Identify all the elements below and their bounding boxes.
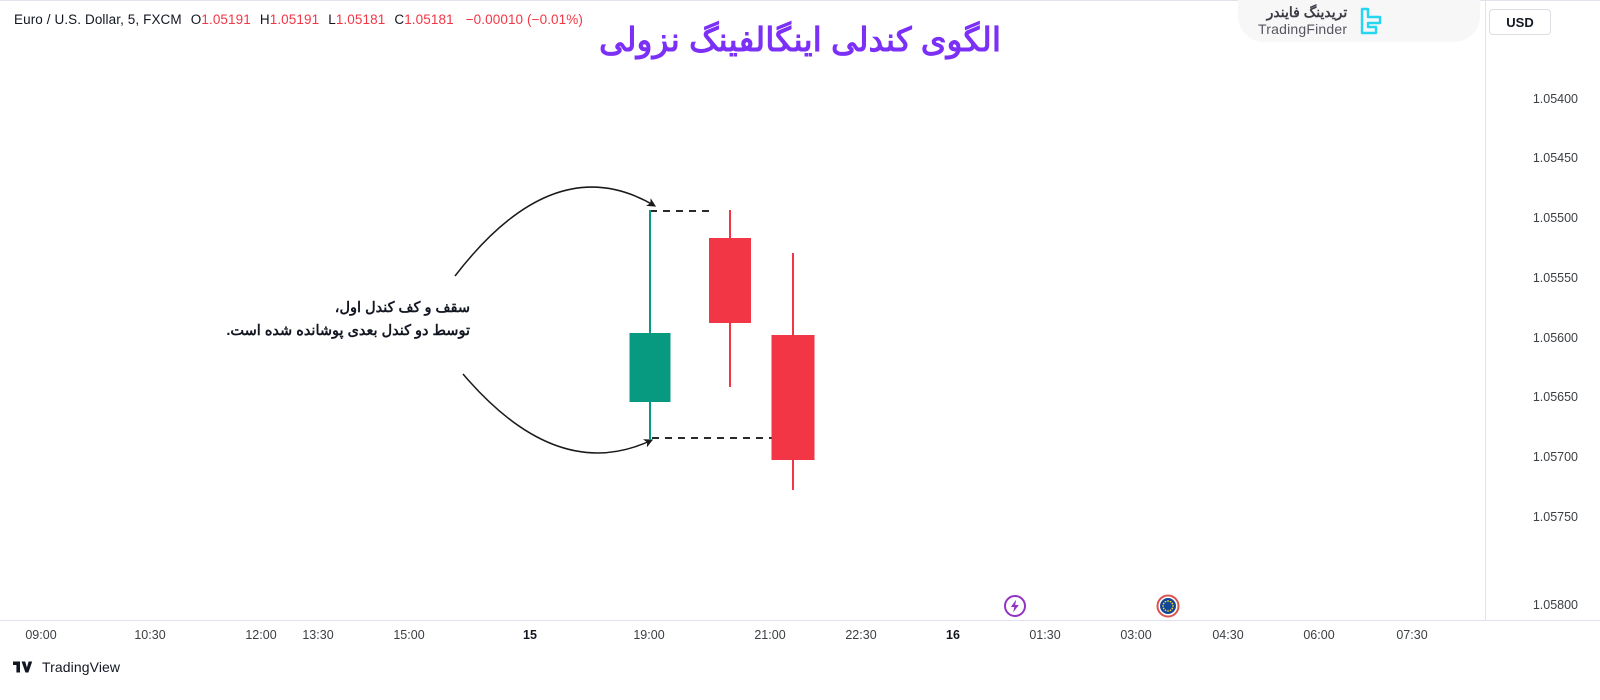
time-axis-tick: 19:00 [633, 628, 664, 642]
bottom-engulf-arrow [463, 374, 652, 453]
price-axis-tick: 1.05400 [1533, 92, 1578, 106]
price-axis-tick: 1.05800 [1533, 598, 1578, 612]
price-axis-tick: 1.05600 [1533, 331, 1578, 345]
time-axis-tick: 22:30 [845, 628, 876, 642]
eu-news-marker[interactable] [1156, 594, 1180, 618]
time-axis-tick: 12:00 [245, 628, 276, 642]
time-axis-tick: 09:00 [25, 628, 56, 642]
price-axis-tick: 1.05750 [1533, 510, 1578, 524]
time-axis-tick: 04:30 [1212, 628, 1243, 642]
price-axis-divider [1485, 0, 1486, 620]
candle-body [709, 238, 751, 323]
time-axis-tick: 13:30 [302, 628, 333, 642]
time-axis-tick: 10:30 [134, 628, 165, 642]
time-axis-tick: 03:00 [1120, 628, 1151, 642]
price-axis-tick: 1.05700 [1533, 450, 1578, 464]
tradingview-chart-screenshot: Euro / U.S. Dollar, 5, FXCM O1.05191 H1.… [0, 0, 1600, 700]
candle-body [772, 335, 815, 460]
time-axis-tick: 15 [523, 628, 537, 642]
candle-wick [649, 210, 651, 440]
time-axis-tick: 16 [946, 628, 960, 642]
time-axis-divider [0, 620, 1600, 621]
time-axis-tick: 06:00 [1303, 628, 1334, 642]
tradingview-footer[interactable]: TradingView [13, 659, 120, 675]
candle-body [630, 333, 671, 402]
price-axis-tick: 1.05650 [1533, 390, 1578, 404]
chart-plot-area[interactable]: سقف و کف کندل اول، توسط دو کندل بعدی پوش… [0, 0, 1485, 620]
top-engulf-arrow [455, 187, 655, 276]
pattern-annotation: سقف و کف کندل اول، توسط دو کندل بعدی پوش… [150, 297, 470, 344]
tradingview-footer-label: TradingView [42, 659, 120, 675]
time-axis-tick: 01:30 [1029, 628, 1060, 642]
currency-badge[interactable]: USD [1489, 9, 1551, 35]
pattern-annotation-line-1: سقف و کف کندل اول، [150, 297, 470, 320]
time-axis-tick: 07:30 [1396, 628, 1427, 642]
time-axis-tick: 21:00 [754, 628, 785, 642]
eu-flag-icon [1156, 594, 1180, 618]
price-axis-tick: 1.05450 [1533, 151, 1578, 165]
tradingview-logo-icon [13, 660, 35, 674]
pattern-annotation-line-2: توسط دو کندل بعدی پوشانده شده است. [150, 320, 470, 343]
price-axis-tick: 1.05500 [1533, 211, 1578, 225]
lightning-bolt-icon [1003, 594, 1027, 618]
time-axis-tick: 15:00 [393, 628, 424, 642]
price-axis-tick: 1.05550 [1533, 271, 1578, 285]
economic-event-marker[interactable] [1003, 594, 1027, 618]
